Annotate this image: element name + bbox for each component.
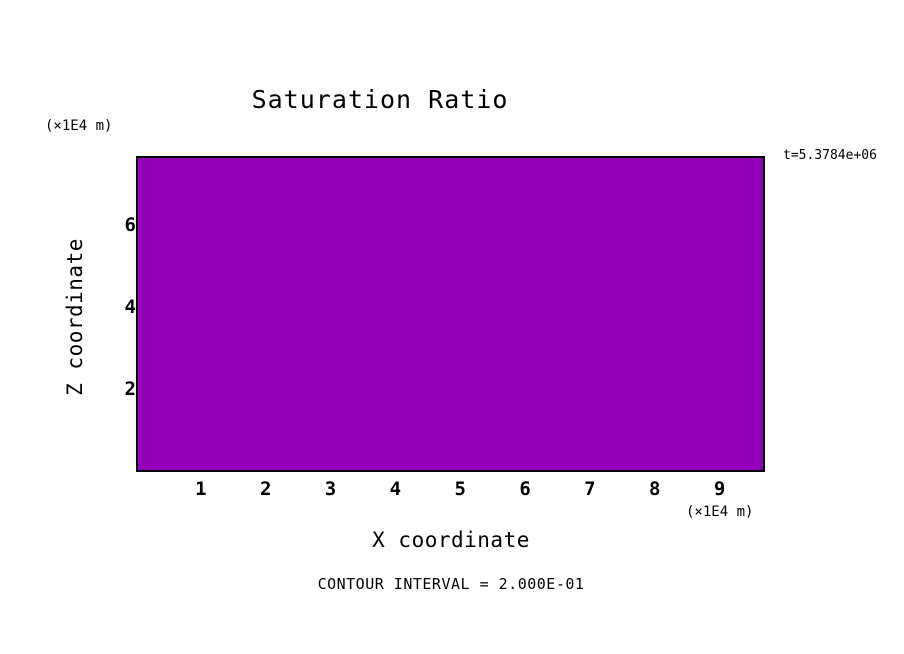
x-tick-label: 1 <box>186 480 216 499</box>
x-tick-label: 4 <box>380 480 410 499</box>
y-tick-label: 6 <box>106 216 136 235</box>
time-annotation: t=5.3784e+06 <box>783 148 877 163</box>
x-tick-label: 2 <box>251 480 281 499</box>
y-tick-label: 4 <box>106 298 136 317</box>
contour-field-canvas <box>138 158 763 470</box>
x-tick-label: 5 <box>445 480 475 499</box>
y-tick-label: 2 <box>106 380 136 399</box>
contour-plot-area <box>136 156 765 472</box>
x-tick-label: 3 <box>316 480 346 499</box>
x-axis-title: X coordinate <box>136 528 766 552</box>
x-tick-label: 9 <box>705 480 735 499</box>
contour-interval-caption: CONTOUR INTERVAL = 2.000E-01 <box>136 575 766 593</box>
x-axis-unit-label: (×1E4 m) <box>686 504 753 520</box>
page-title: Saturation Ratio <box>0 85 760 114</box>
colorbar <box>783 212 809 504</box>
x-tick-label: 8 <box>640 480 670 499</box>
y-axis-unit-label: (×1E4 m) <box>45 118 112 134</box>
x-tick-label: 6 <box>510 480 540 499</box>
x-tick-label: 7 <box>575 480 605 499</box>
y-axis-title: Z coordinate <box>63 217 87 417</box>
